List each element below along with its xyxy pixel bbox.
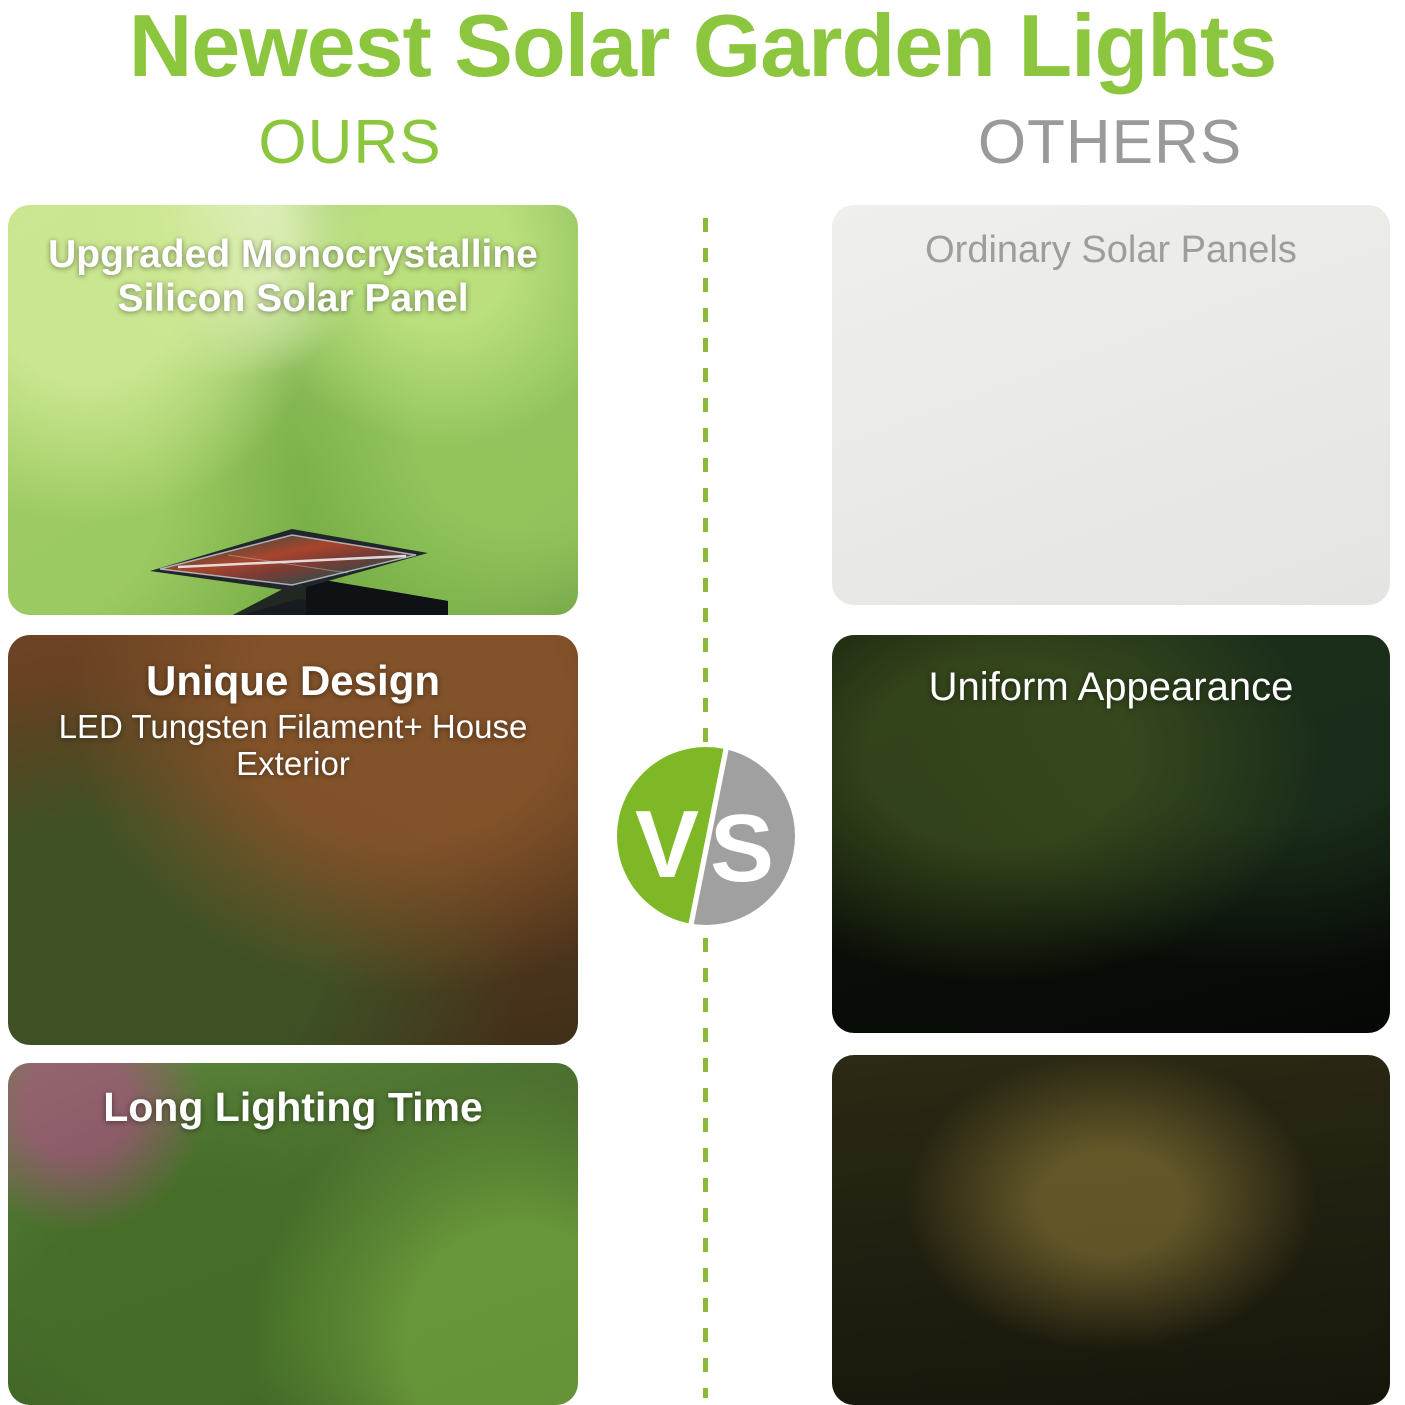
ours-design-subcaption: LED Tungsten Filament+ House Exterior — [8, 709, 578, 783]
column-label-others: OTHERS — [830, 112, 1390, 174]
ours-solar-caption: Upgraded Monocrystalline Silicon Solar P… — [8, 233, 578, 320]
panel-ours-solar-panel: Upgraded Monocrystalline Silicon Solar P… — [8, 205, 578, 615]
panel-others-solar-panel: Ordinary Solar Panels — [832, 205, 1390, 605]
panel-ours-long-lighting: Long Lighting Time — [8, 1063, 578, 1405]
column-label-ours: OURS — [120, 112, 580, 174]
ours-solar-caption-line2: Silicon Solar Panel — [117, 277, 468, 320]
others-solar-caption: Ordinary Solar Panels — [832, 229, 1390, 272]
page-title: Newest Solar Garden Lights — [0, 2, 1405, 90]
solar-lamp-closeup-illustration — [28, 523, 568, 615]
ours-solar-caption-line1: Upgraded Monocrystalline — [48, 233, 538, 276]
panel-others-uniform-appearance: Uniform Appearance — [832, 635, 1390, 1033]
others-uniform-caption: Uniform Appearance — [832, 665, 1390, 710]
ours-design-caption: Unique Design — [8, 657, 578, 704]
vs-badge: V S — [617, 747, 795, 925]
vs-letter-v: V — [635, 797, 699, 893]
ours-long-caption: Long Lighting Time — [8, 1085, 578, 1131]
panel-ours-unique-design: Unique Design LED Tungsten Filament+ Hou… — [8, 635, 578, 1045]
panel-others-lawn — [832, 1055, 1390, 1405]
vs-letter-s: S — [710, 801, 774, 897]
infographic-root: Newest Solar Garden Lights OURS OTHERS — [0, 0, 1405, 1405]
